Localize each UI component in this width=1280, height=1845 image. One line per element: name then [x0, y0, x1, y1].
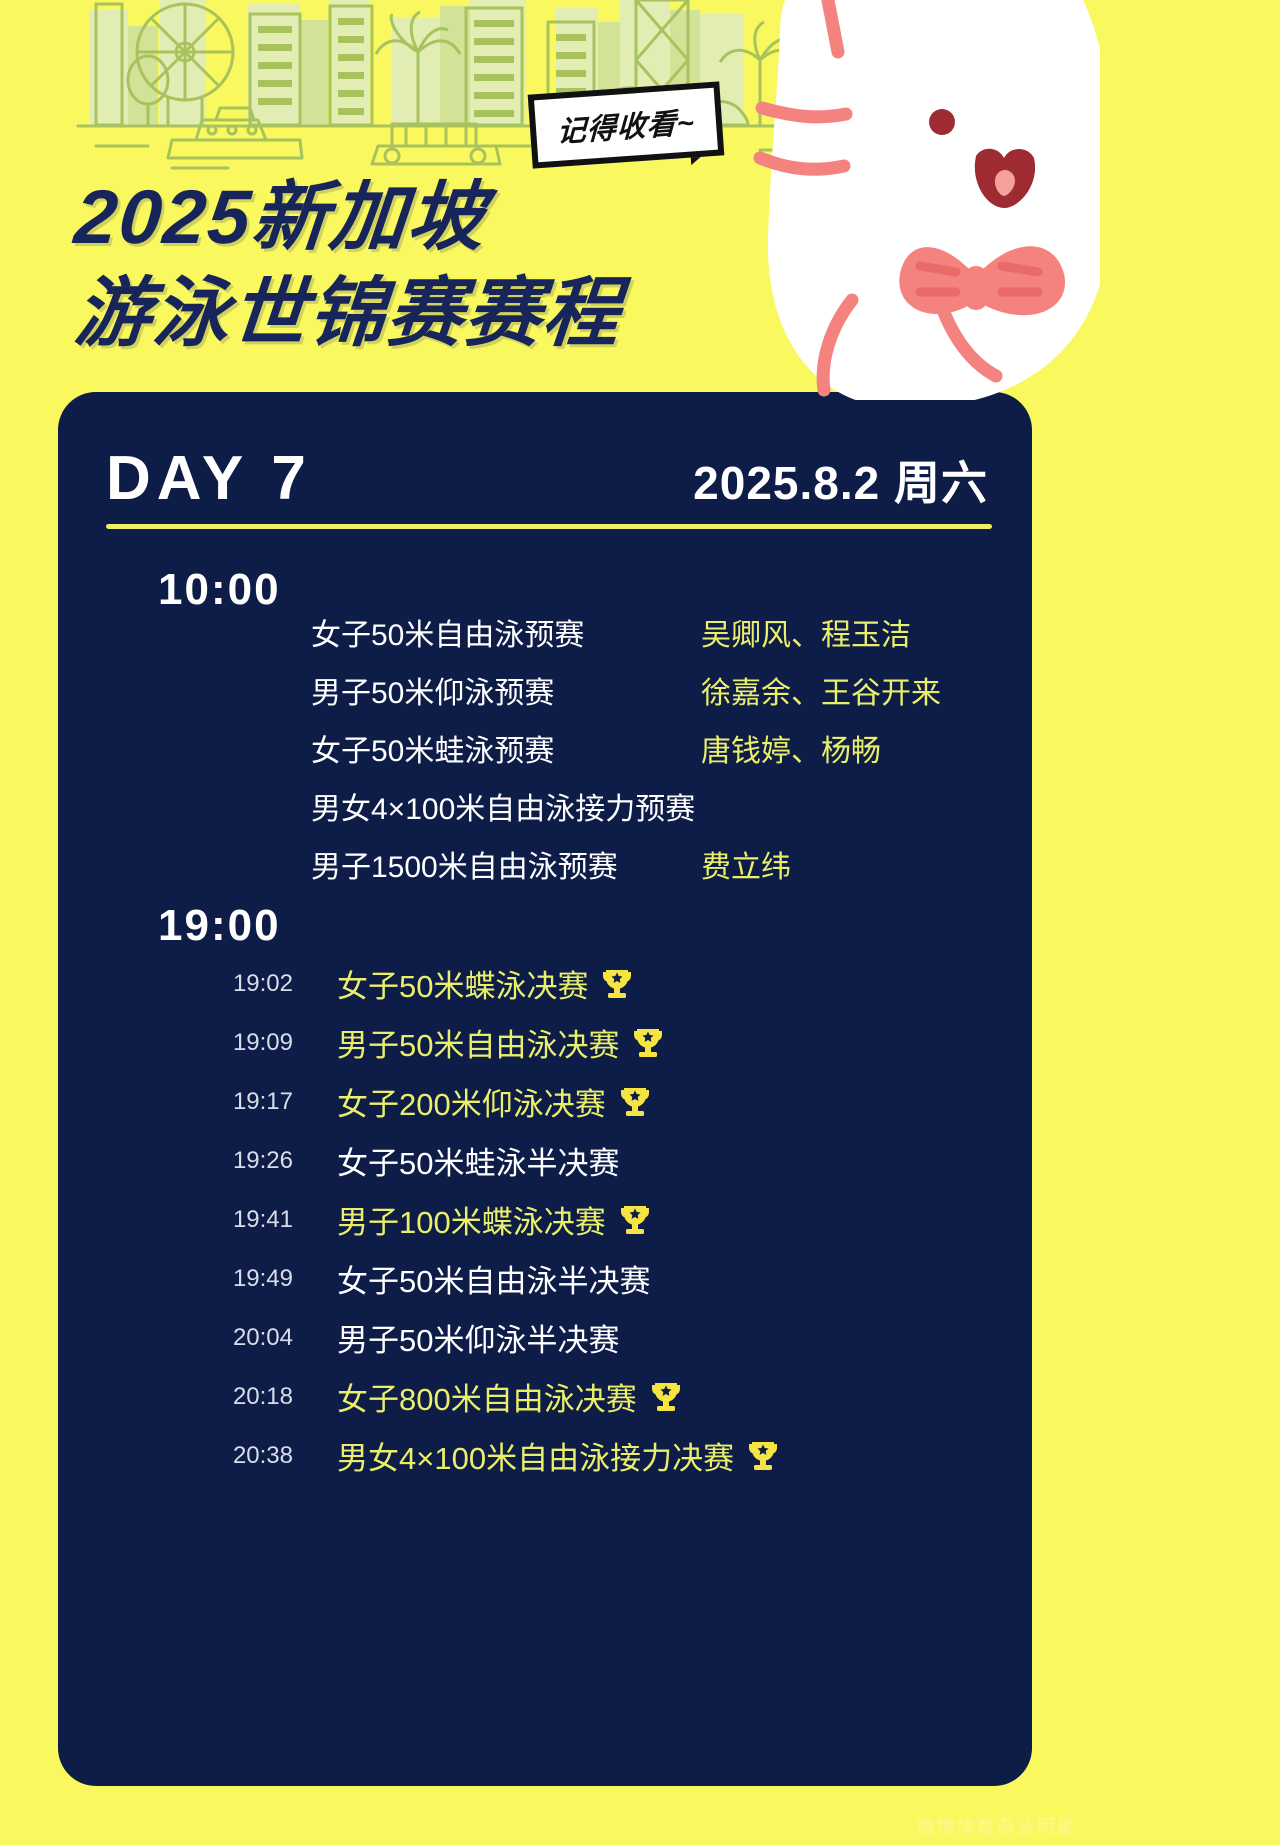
list-item: 20:38男女4×100米自由泳接力决赛 [98, 1426, 1028, 1485]
cat-mascot [720, 0, 1100, 400]
trophy-icon [748, 1440, 778, 1472]
event-name: 男子50米自由泳决赛 [337, 1020, 663, 1065]
list-item: 20:04男子50米仰泳半决赛 [98, 1308, 1028, 1367]
speech-bubble: 记得收看~ [528, 81, 725, 168]
list-item: 20:18女子800米自由泳决赛 [98, 1367, 1028, 1426]
event-label: 男子50米仰泳半决赛 [337, 1315, 619, 1360]
event-name: 女子50米自由泳半决赛 [337, 1256, 650, 1301]
event-time: 19:02 [98, 970, 337, 998]
event-name: 女子50米蛙泳预赛 [311, 726, 701, 770]
event-time: 20:04 [98, 1324, 337, 1352]
table-row: 男子1500米自由泳预赛费立纬 [311, 842, 1031, 900]
event-name: 女子800米自由泳决赛 [337, 1374, 681, 1419]
event-time: 20:38 [98, 1442, 337, 1470]
event-label: 女子50米自由泳半决赛 [337, 1256, 650, 1301]
event-name: 女子50米自由泳预赛 [311, 610, 701, 654]
date-label: 2025.8.2 周六 [693, 460, 988, 510]
event-time: 19:49 [98, 1265, 337, 1293]
trophy-icon [651, 1381, 681, 1413]
event-time: 19:17 [98, 1088, 337, 1116]
event-label: 女子800米自由泳决赛 [337, 1374, 637, 1419]
event-label: 女子200米仰泳决赛 [337, 1079, 606, 1124]
schedule-card: DAY 7 2025.8.2 周六 10:00 女子50米自由泳预赛吴卿风、程玉… [58, 392, 1032, 1786]
page-title: 2025新加坡 游泳世锦赛赛程 [75, 170, 621, 362]
table-row: 男子50米仰泳预赛徐嘉余、王谷开来 [311, 668, 1031, 726]
event-label: 女子50米蛙泳半决赛 [337, 1138, 619, 1183]
event-name: 男子50米仰泳预赛 [311, 668, 701, 712]
event-label: 男子100米蝶泳决赛 [337, 1197, 606, 1242]
list-item: 19:26女子50米蛙泳半决赛 [98, 1131, 1028, 1190]
event-time: 19:09 [98, 1029, 337, 1057]
trophy-icon [602, 968, 632, 1000]
speech-bubble-text: 记得收看~ [556, 99, 695, 151]
athlete-names: 唐钱婷、杨畅 [701, 726, 881, 770]
event-name: 男子50米仰泳半决赛 [337, 1315, 619, 1360]
trophy-icon [633, 1027, 663, 1059]
session-time-morning: 10:00 [158, 568, 281, 612]
event-time: 19:41 [98, 1206, 337, 1234]
table-row: 女子50米蛙泳预赛唐钱婷、杨畅 [311, 726, 1031, 784]
event-time: 19:26 [98, 1147, 337, 1175]
card-header: DAY 7 2025.8.2 周六 [106, 428, 988, 510]
watermark: 微博体育游泳明星 [916, 1812, 1076, 1839]
event-name: 男女4×100米自由泳接力决赛 [337, 1433, 778, 1478]
list-item: 19:17女子200米仰泳决赛 [98, 1072, 1028, 1131]
list-item: 19:49女子50米自由泳半决赛 [98, 1249, 1028, 1308]
event-label: 女子50米蝶泳决赛 [337, 961, 588, 1006]
event-label: 男子50米自由泳决赛 [337, 1020, 619, 1065]
trophy-icon [620, 1204, 650, 1236]
session-time-evening: 19:00 [158, 904, 281, 948]
event-name: 女子200米仰泳决赛 [337, 1079, 650, 1124]
list-item: 19:41男子100米蝶泳决赛 [98, 1190, 1028, 1249]
table-row: 女子50米自由泳预赛吴卿风、程玉洁 [311, 610, 1031, 668]
header-divider [106, 524, 992, 529]
trophy-icon [620, 1086, 650, 1118]
table-row: 男女4×100米自由泳接力预赛 [311, 784, 1031, 842]
event-name: 男女4×100米自由泳接力预赛 [311, 784, 701, 828]
athlete-names: 费立纬 [701, 842, 791, 886]
title-line-1: 2025新加坡 [71, 170, 625, 266]
morning-event-list: 女子50米自由泳预赛吴卿风、程玉洁男子50米仰泳预赛徐嘉余、王谷开来女子50米蛙… [311, 610, 1031, 900]
evening-event-list: 19:02女子50米蝶泳决赛19:09男子50米自由泳决赛19:17女子200米… [98, 954, 1028, 1485]
list-item: 19:02女子50米蝶泳决赛 [98, 954, 1028, 1013]
event-name: 男子1500米自由泳预赛 [311, 842, 701, 886]
list-item: 19:09男子50米自由泳决赛 [98, 1013, 1028, 1072]
event-name: 男子100米蝶泳决赛 [337, 1197, 650, 1242]
event-name: 女子50米蛙泳半决赛 [337, 1138, 619, 1183]
title-line-2: 游泳世锦赛赛程 [71, 266, 625, 362]
athlete-names: 徐嘉余、王谷开来 [701, 668, 941, 712]
athlete-names: 吴卿风、程玉洁 [701, 610, 911, 654]
event-name: 女子50米蝶泳决赛 [337, 961, 632, 1006]
day-label: DAY 7 [106, 448, 312, 510]
event-label: 男女4×100米自由泳接力决赛 [337, 1433, 734, 1478]
event-time: 20:18 [98, 1383, 337, 1411]
